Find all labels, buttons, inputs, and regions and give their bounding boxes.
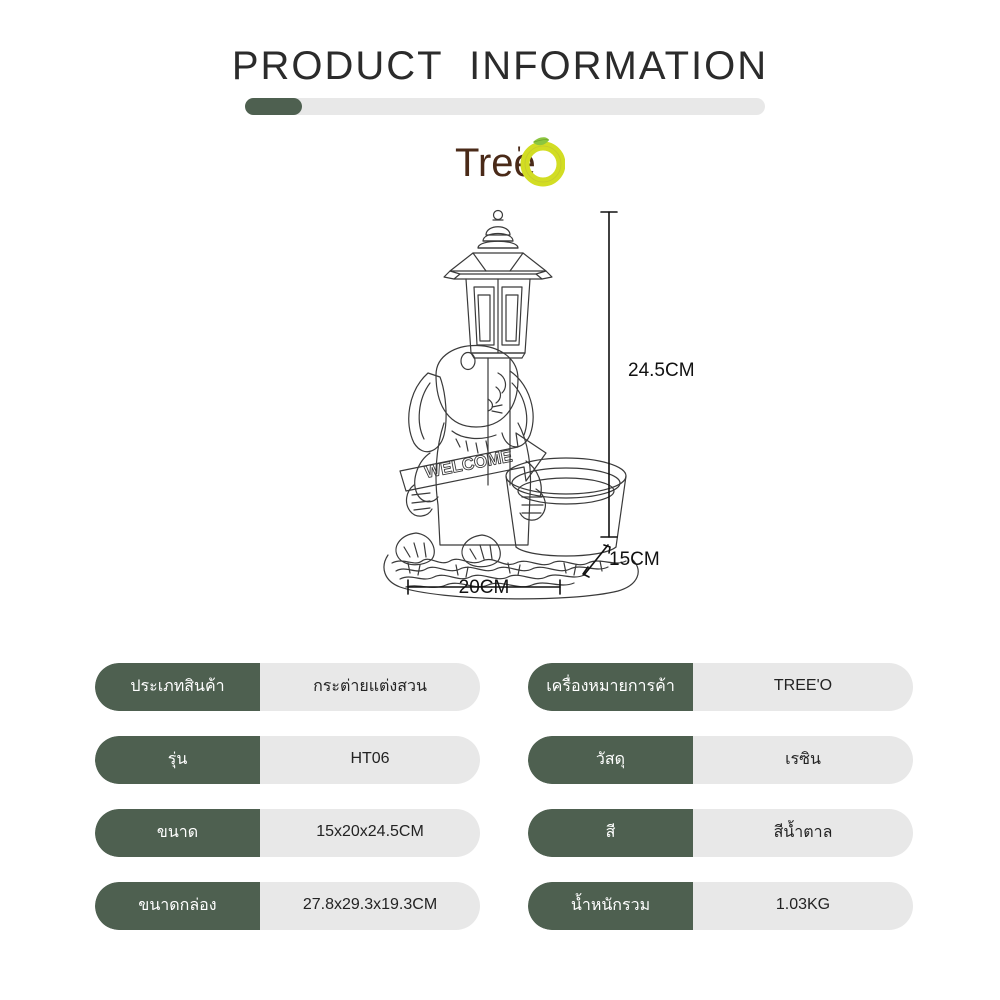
spec-label-trademark: เครื่องหมายการค้า <box>528 663 693 711</box>
progress-bar-track <box>245 98 765 115</box>
page-title: PRODUCT INFORMATION <box>0 44 1000 89</box>
dimension-label-height: 24.5CM <box>628 360 695 382</box>
dimension-label-depth: 15CM <box>609 549 660 571</box>
spec-label-color: สี <box>528 809 693 857</box>
spec-value-box-size: 27.8x29.3x19.3CM <box>260 882 480 930</box>
planter-pot <box>506 458 626 556</box>
welcome-sign-text: WELCOME <box>423 446 514 482</box>
spec-label-product-type: ประเภทสินค้า <box>95 663 260 711</box>
welcome-sign: WELCOME <box>400 433 546 491</box>
spec-row-product-type: ประเภทสินค้า กระต่ายแต่งสวน <box>95 663 480 711</box>
spec-label-material: วัสดุ <box>528 736 693 784</box>
spec-label-model: รุ่น <box>95 736 260 784</box>
specification-table: ประเภทสินค้า กระต่ายแต่งสวน รุ่น HT06 ขน… <box>0 663 1000 963</box>
brand-logo: Tree ' <box>455 132 565 190</box>
spec-row-color: สี สีน้ำตาล <box>528 809 913 857</box>
spec-label-size: ขนาด <box>95 809 260 857</box>
product-illustration: WELCOME <box>370 195 750 615</box>
spec-value-gross-weight: 1.03KG <box>693 882 913 930</box>
spec-row-box-size: ขนาดกล่อง 27.8x29.3x19.3CM <box>95 882 480 930</box>
spec-value-model: HT06 <box>260 736 480 784</box>
spec-column-right: เครื่องหมายการค้า TREE'O วัสดุ เรซิน สี … <box>528 663 913 955</box>
spec-value-trademark: TREE'O <box>693 663 913 711</box>
spec-row-size: ขนาด 15x20x24.5CM <box>95 809 480 857</box>
dimension-label-width: 20CM <box>408 577 560 599</box>
spec-column-left: ประเภทสินค้า กระต่ายแต่งสวน รุ่น HT06 ขน… <box>95 663 480 955</box>
spec-value-material: เรซิน <box>693 736 913 784</box>
spec-value-product-type: กระต่ายแต่งสวน <box>260 663 480 711</box>
spec-label-box-size: ขนาดกล่อง <box>95 882 260 930</box>
spec-value-size: 15x20x24.5CM <box>260 809 480 857</box>
spec-row-material: วัสดุ เรซิน <box>528 736 913 784</box>
progress-bar-fill <box>245 98 302 115</box>
spec-row-trademark: เครื่องหมายการค้า TREE'O <box>528 663 913 711</box>
spec-value-color: สีน้ำตาล <box>693 809 913 857</box>
spec-row-model: รุ่น HT06 <box>95 736 480 784</box>
spec-row-gross-weight: น้ำหนักรวม 1.03KG <box>528 882 913 930</box>
spec-label-gross-weight: น้ำหนักรวม <box>528 882 693 930</box>
